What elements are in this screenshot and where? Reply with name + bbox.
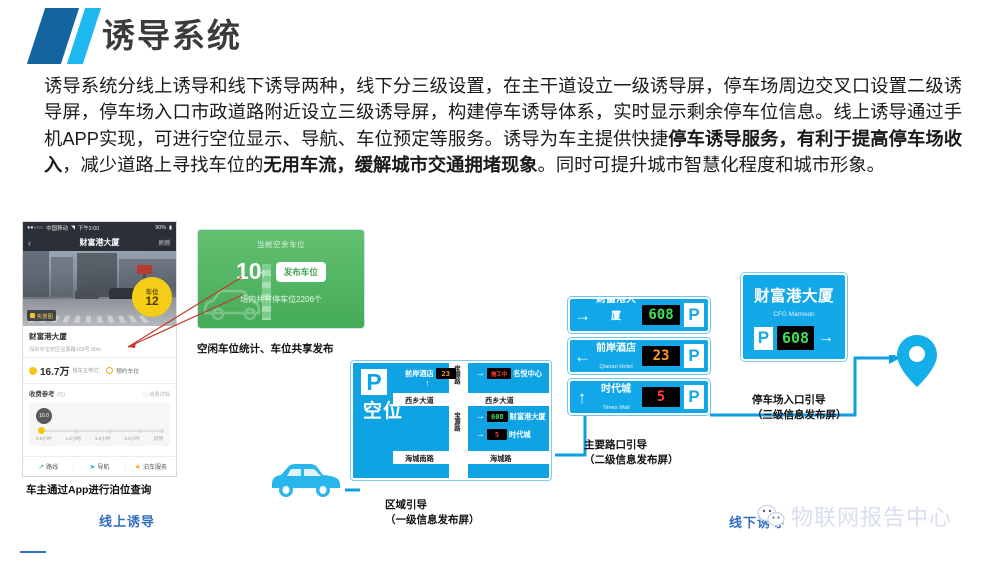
junction-guide-signs: → 财富港大厦 CFG Mamsion 608 P ← 前岸酒店 Qianan … [568,297,710,420]
fee-header: 收费参考 (元) ⓘ 收费详情 [29,389,170,398]
vertical-road-label-bottom: 宝源路 [452,412,461,431]
fee-bubble: 10.0 [36,408,52,424]
phone-status-bar: ●●○○○ 中国移动 ◥ 下午2:00 90% ▮ [23,222,176,234]
tab-valet-label: 泊车服务 [143,462,167,471]
fee-slider-knob[interactable] [38,427,45,434]
battery-label: 90% [155,225,166,231]
photo-tag-icon [30,313,35,318]
coin-icon [29,367,37,375]
junction-sign-text: 时代城 Times Mall [594,380,638,414]
price-cell: 16.7万 信车主停过 [23,363,99,378]
area-guide-sign: P 空位 宝源路 宝源路 西乡大道 西乡大道 海城南路 海城路 前岸酒店 23 … [351,361,551,480]
publish-space-button[interactable]: 发布车位 [276,262,326,282]
junction-sign-value: 5 [642,387,680,407]
map-entry-name: 名悦中心 [513,369,542,379]
arrow-right-icon: → [475,430,485,440]
fee-tick-label: 1.0小时 [65,436,81,442]
caption-junction-guide-main: 主要路口引导 [584,439,647,451]
free-space-title: 当前空余车位 [198,239,364,250]
price-label: 信车主停过 [72,367,98,374]
junction-sign-cn: 时代城 [601,384,631,395]
arrow-right-icon: → [574,307,590,324]
navigation-icon: ➤ [90,463,96,471]
entrance-sign-value: 608 [777,326,814,350]
phone-nav-title: 财富港大厦 [23,237,176,248]
junction-sign-value: 23 [642,346,680,366]
battery-icon: ▮ [169,225,172,231]
caption-junction-guide-sub: （二级信息发布屏） [584,454,679,466]
star-icon: ★ [135,463,141,471]
fee-slider-tick [75,429,79,433]
map-entry-value: 5 [487,429,507,440]
fee-section: 收费参考 (元) ⓘ 收费详情 10.0 0.5小时 1.0小时 3.0小时 5 [23,384,176,446]
map-pin-icon [895,333,939,389]
junction-sign-text: 前岸酒店 Qianan Hotel [594,339,638,373]
map-entry-name: 时代城 [509,430,531,440]
building-shape [51,257,73,297]
fee-tick-label: 封顶 [154,436,163,442]
map-entry-name: 财富港大厦 [510,412,546,422]
phone-nav-bar: ‹ 财富港大厦 刷新 [23,234,176,251]
fee-title: 收费参考 [29,389,55,398]
price-value: 16.7万 [40,363,69,378]
reserve-icon [106,367,113,374]
fee-tick-label: 0.5小时 [36,436,52,442]
tab-navigation[interactable]: ➤导航 [73,462,124,471]
arrow-up-icon: ↑ [425,379,430,388]
fee-tick-labels: 0.5小时 1.0小时 3.0小时 5.0小时 封顶 [34,436,165,442]
reserve-cell[interactable]: 预约车位 [99,366,176,375]
fee-tick-label: 5.0小时 [124,436,140,442]
caption-phone: 车主通过App进行泊位查询 [26,483,151,498]
parking-count-badge: 车位 12 [132,277,172,317]
entrance-guide-sign: 财富港大厦 CFG Mamsion P 608 → [741,273,847,361]
tab-route[interactable]: ↗路线 [23,462,73,471]
photo-tag: 实景图 [27,310,56,321]
route-icon: ↗ [38,463,44,471]
car-icon [268,458,344,498]
phone-stats-row: 16.7万 信车主停过 预约车位 [23,358,176,384]
junction-sign-times: ↑ 时代城 Times Mall 5 P [568,379,710,415]
junction-sign-cn: 财富港大厦 [596,294,636,322]
caption-junction-guide: 主要路口引导 （二级信息发布屏） [584,438,679,467]
wechat-icon [756,504,786,528]
building-shape [23,251,49,297]
arrow-right-icon: → [818,330,834,346]
junction-sign-p: P [684,385,704,409]
watermark-text: 物联网报告中心 [791,500,952,532]
map-entry-name: 前岸酒店 [405,369,434,379]
junction-sign-p: P [684,344,704,368]
parking-gate-icon [262,264,271,320]
road-label-top-right: 西乡大道 [485,396,514,406]
caption-green-panel: 空闲车位统计、车位共享发布 [197,342,334,357]
caption-entrance-guide-sub: （三级信息发布屏） [752,409,847,421]
map-entry-cfg: → 608 财富港大厦 [475,411,546,422]
fee-slider-tick [138,429,142,433]
map-entry-value: 608 [487,411,508,422]
wifi-icon: ◥ [71,225,75,231]
caption-area-guide-main: 区域引导 [385,499,427,511]
slide-root: 诱导系统 诱导系统分线上诱导和线下诱导两种，线下分三级设置，在主干道设立一级诱导… [0,0,1000,562]
arrow-right-icon: → [475,369,485,379]
caption-area-guide: 区域引导 （一级信息发布屏） [385,498,480,527]
fee-slider-box: 10.0 0.5小时 1.0小时 3.0小时 5.0小时 封顶 [29,402,170,446]
junction-sign-cn: 前岸酒店 [596,343,636,354]
caption-entrance-guide-main: 停车场入口引导 [752,394,826,406]
caption-entrance-guide: 停车场入口引导 （三级信息发布屏） [752,393,847,422]
photo-tag-label: 实景图 [37,312,53,320]
entrance-sign-p: P [754,327,773,350]
junction-sign-cfg: → 财富港大厦 CFG Mamsion 608 P [568,297,710,333]
fee-unit: (元) [57,391,65,398]
fee-detail-label: 收费详情 [149,392,170,398]
road-label-bottom-right: 海城路 [490,454,512,464]
junction-sign-text: 财富港大厦 CFG Mamsion [594,290,638,340]
status-time: 下午2:00 [78,224,99,232]
slide-header: 诱导系统 [0,0,1000,70]
phone-bottom-tabs: ↗路线 ➤导航 ★泊车服务 [23,456,176,476]
reserve-label: 预约车位 [116,366,139,375]
map-entry-qianan: 前岸酒店 23 [405,368,456,379]
entrance-sign-en: CFG Mamsion [743,311,845,318]
junction-sign-en: Qianan Hotel [599,364,632,370]
junction-sign-en: Times Mall [602,405,629,411]
fee-slider-track[interactable] [38,430,161,432]
watermark: 物联网报告中心 [756,500,952,532]
signal-icon: ●●○○○ [27,225,43,231]
fee-detail-link[interactable]: ⓘ 收费详情 [143,391,170,398]
map-entry-times: → 5 时代城 [475,429,531,440]
arrow-left-icon: ← [574,348,590,365]
sign-p-letter: P [361,369,387,395]
tab-navigation-label: 导航 [97,462,109,471]
junction-sign-en: CFG Mamsion [598,331,635,337]
tab-route-label: 路线 [46,462,58,471]
arrow-up-icon: ↑ [574,389,590,406]
carrier-label: 中国移动 [46,224,68,232]
fee-tick-label: 3.0小时 [95,436,111,442]
junction-sign-qianan: ← 前岸酒店 Qianan Hotel 23 P [568,338,710,374]
junction-sign-value: 608 [642,305,680,325]
map-entry-value: 施工中 [487,368,511,379]
footer-divider [20,551,46,553]
fee-slider-tick [160,429,164,433]
body-paragraph: 诱导系统分线上诱导和线下诱导两种，线下分三级设置，在主干道设立一级诱导屏，停车场… [44,73,962,179]
tab-valet[interactable]: ★泊车服务 [125,462,176,471]
caption-area-guide-sub: （一级信息发布屏） [385,514,480,526]
para-part-2: ，减少道路上寻找车位的 [62,154,263,175]
map-entry-mingyue: → 施工中 名悦中心 [475,368,542,379]
fee-slider-tick [108,429,112,433]
arrow-right-icon: → [475,412,485,422]
road-label-top-left: 西乡大道 [405,396,434,406]
entrance-sign-cn: 财富港大厦 [743,284,845,306]
para-part-3: 。同时可提升城市智慧化程度和城市形象。 [538,154,885,175]
map-entry-value: 23 [436,368,456,379]
label-online-guide: 线上诱导 [99,511,155,530]
photo-car [75,290,99,299]
junction-sign-p: P [684,303,704,327]
road-label-bottom-left: 海城南路 [405,454,434,464]
badge-value: 12 [145,297,158,306]
para-bold-2: 无用车流，缓解城市交通拥堵现象 [263,154,537,175]
entrance-sign-row: P 608 → [743,326,845,350]
page-title: 诱导系统 [102,14,242,58]
